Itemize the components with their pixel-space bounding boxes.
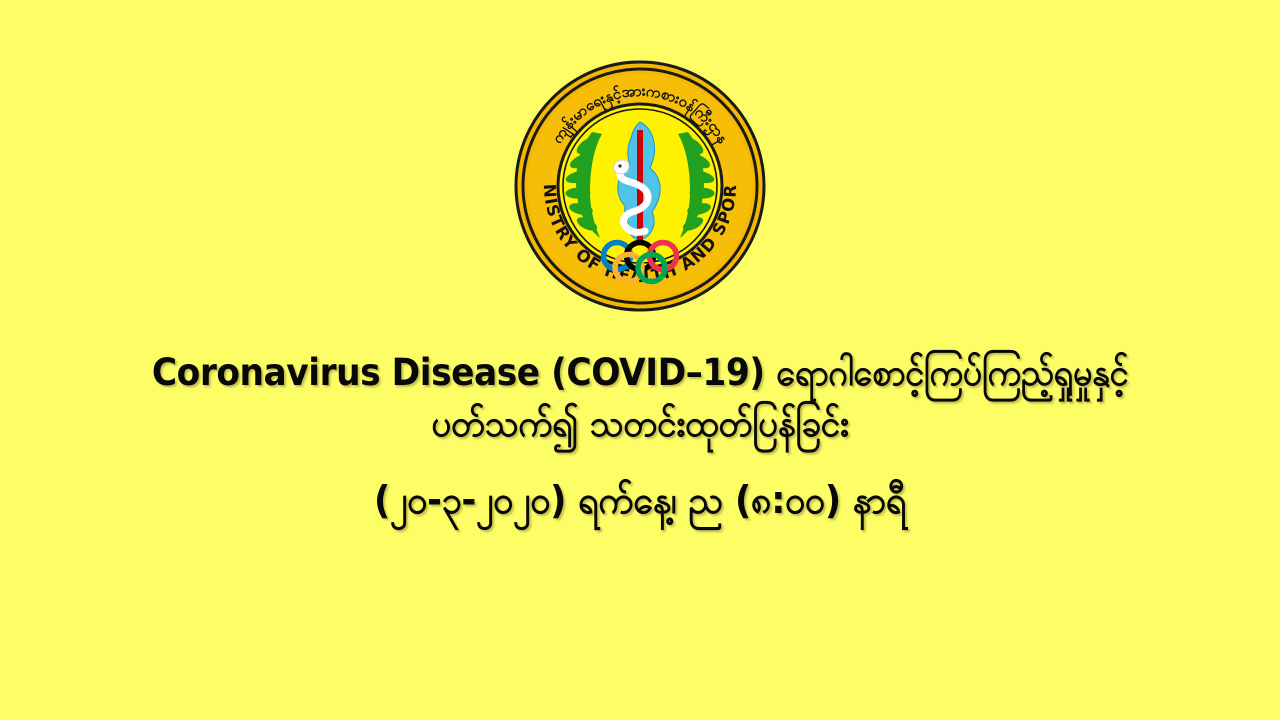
ministry-emblem: ကျန်းမာရေးနှင့်အားကစားဝန်ကြီးဌာန MINISTR… xyxy=(514,60,766,312)
ministry-emblem-svg: ကျန်းမာရေးနှင့်အားကစားဝန်ကြီးဌာန MINISTR… xyxy=(514,60,766,312)
announcement-slide: ကျန်းမာရေးနှင့်အားကစားဝန်ကြီးဌာန MINISTR… xyxy=(0,0,1280,720)
announcement-line-2: ပတ်သက်၍ သတင်းထုတ်ပြန်ခြင်း xyxy=(32,403,1248,444)
announcement-line-1: Coronavirus Disease (COVID–19) ရောဂါစောင… xyxy=(45,352,1235,393)
announcement-text-block: Coronavirus Disease (COVID–19) ရောဂါစောင… xyxy=(0,352,1280,521)
serpent-eye-icon xyxy=(618,164,621,167)
announcement-datetime-line: (၂၀-၃-၂၀၂၀) ရက်နေ့၊ ည (၈:၀၀) နာရီ xyxy=(32,479,1248,522)
serpent-head-icon xyxy=(614,160,629,174)
